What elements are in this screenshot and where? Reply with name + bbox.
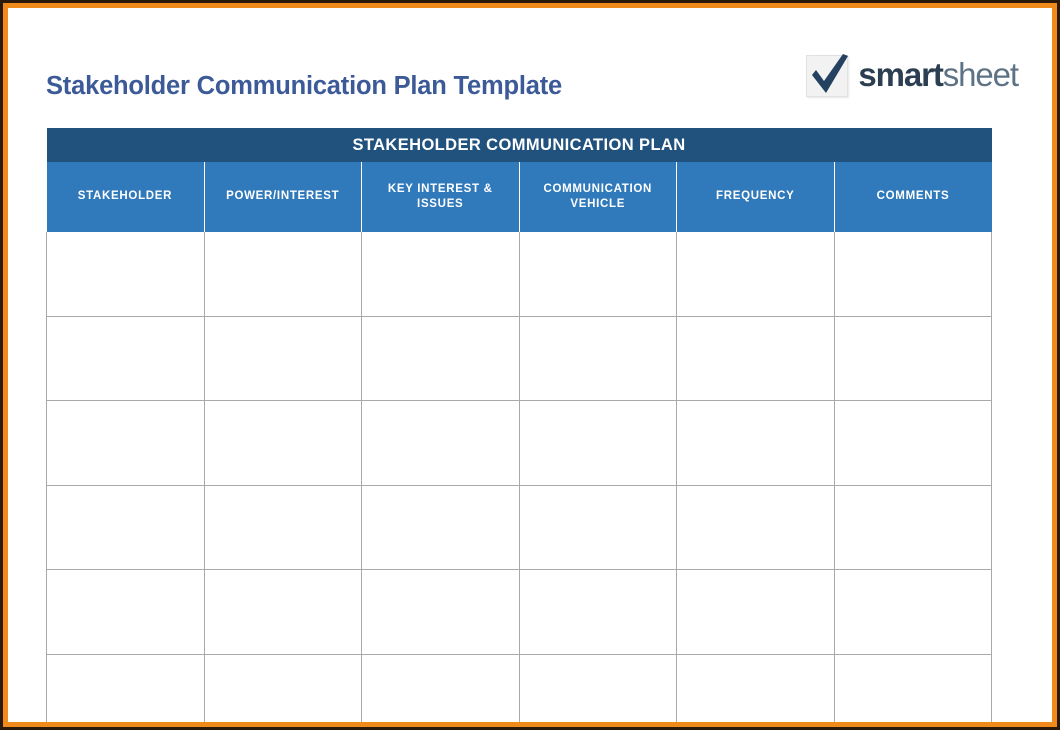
cell-comments[interactable] [834,654,992,730]
table-header-row: STAKEHOLDER POWER/INTEREST KEY INTEREST … [47,162,992,232]
table-banner-row: STAKEHOLDER COMMUNICATION PLAN [47,128,992,162]
cell-communication-vehicle[interactable] [519,654,677,730]
logo-word-primary: smart [858,56,942,93]
cell-comments[interactable] [834,232,992,316]
cell-communication-vehicle[interactable] [519,570,677,655]
smartsheet-logo: smartsheet [804,46,1018,102]
cell-communication-vehicle[interactable] [519,485,677,570]
cell-comments[interactable] [834,570,992,655]
stakeholder-communication-plan-table: STAKEHOLDER COMMUNICATION PLAN STAKEHOLD… [46,128,992,730]
column-header-power-interest[interactable]: POWER/INTEREST [204,162,362,232]
cell-frequency[interactable] [677,485,835,570]
cell-key-interest-issues[interactable] [362,401,520,486]
logo-word-secondary: sheet [943,56,1018,93]
table-body [47,232,992,730]
column-header-key-interest-issues[interactable]: KEY INTEREST & ISSUES [362,162,520,232]
cell-power-interest[interactable] [204,232,362,316]
cell-key-interest-issues[interactable] [362,570,520,655]
cell-stakeholder[interactable] [47,570,205,655]
cell-power-interest[interactable] [204,316,362,401]
cell-communication-vehicle[interactable] [519,232,677,316]
cell-communication-vehicle[interactable] [519,316,677,401]
table-row [47,485,992,570]
page-title: Stakeholder Communication Plan Template [46,72,562,101]
cell-key-interest-issues[interactable] [362,232,520,316]
cell-comments[interactable] [834,316,992,401]
template-page: Stakeholder Communication Plan Template … [0,0,1060,730]
cell-comments[interactable] [834,401,992,486]
cell-stakeholder[interactable] [47,232,205,316]
column-header-stakeholder[interactable]: STAKEHOLDER [47,162,205,232]
cell-power-interest[interactable] [204,401,362,486]
cell-frequency[interactable] [677,316,835,401]
cell-key-interest-issues[interactable] [362,485,520,570]
cell-stakeholder[interactable] [47,401,205,486]
table-row [47,316,992,401]
cell-stakeholder[interactable] [47,654,205,730]
table-row [47,232,992,316]
cell-communication-vehicle[interactable] [519,401,677,486]
column-header-communication-vehicle[interactable]: COMMUNICATION VEHICLE [519,162,677,232]
cell-key-interest-issues[interactable] [362,316,520,401]
cell-stakeholder[interactable] [47,485,205,570]
checkmark-icon [804,50,852,98]
table-head: STAKEHOLDER COMMUNICATION PLAN STAKEHOLD… [47,128,992,232]
cell-comments[interactable] [834,485,992,570]
cell-frequency[interactable] [677,401,835,486]
cell-frequency[interactable] [677,570,835,655]
column-header-frequency[interactable]: FREQUENCY [677,162,835,232]
table-row [47,401,992,486]
cell-key-interest-issues[interactable] [362,654,520,730]
table-banner-title: STAKEHOLDER COMMUNICATION PLAN [47,128,992,162]
cell-power-interest[interactable] [204,485,362,570]
table-row [47,570,992,655]
cell-power-interest[interactable] [204,654,362,730]
table-row [47,654,992,730]
cell-power-interest[interactable] [204,570,362,655]
cell-stakeholder[interactable] [47,316,205,401]
cell-frequency[interactable] [677,232,835,316]
column-header-comments[interactable]: COMMENTS [834,162,992,232]
logo-wordmark: smartsheet [858,58,1018,91]
cell-frequency[interactable] [677,654,835,730]
